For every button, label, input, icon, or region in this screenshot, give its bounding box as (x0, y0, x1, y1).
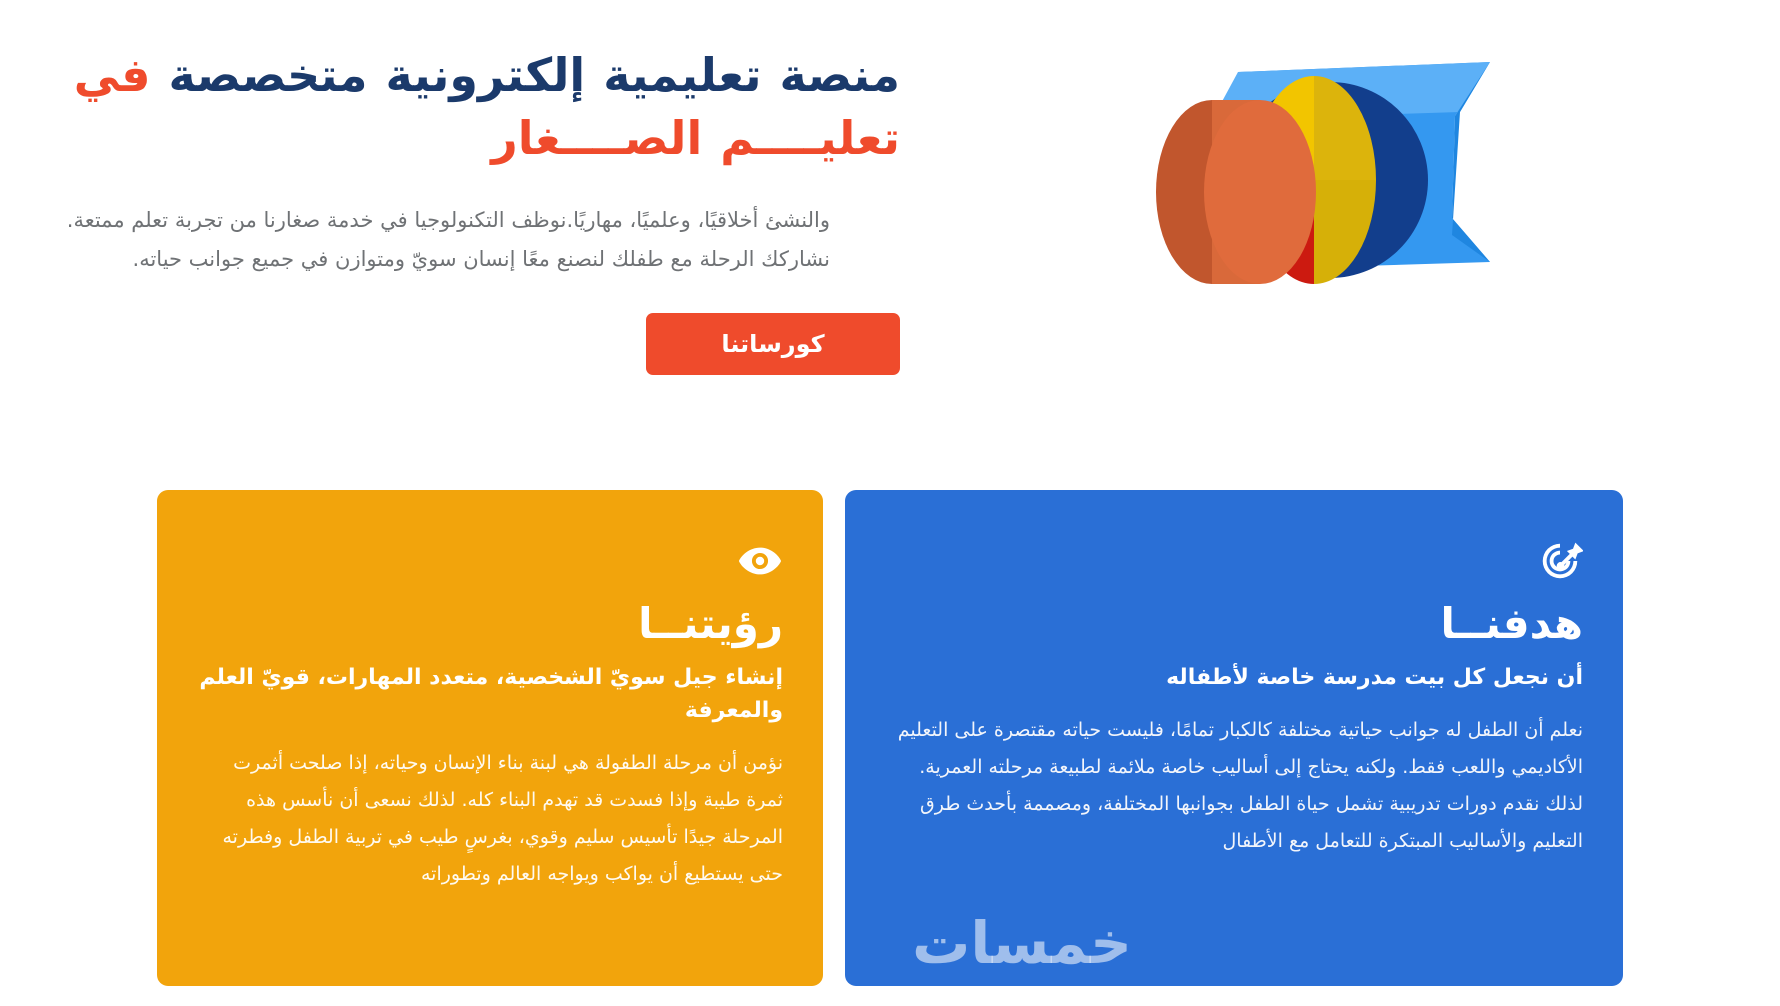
brand-logo-icon (1100, 20, 1530, 340)
page-title: منصة تعليمية إلكترونية متخصصة فيتعليــــ… (0, 44, 900, 171)
cta-wrapper: كورساتنا (0, 313, 900, 375)
card-vision-subtitle: إنشاء جيل سويّ الشخصية، متعدد المهارات، … (197, 661, 783, 727)
card-goal-title: هدفنــا (885, 598, 1583, 651)
card-goal[interactable]: هدفنــا أن نجعل كل بيت مدرسة خاصة لأطفال… (845, 490, 1623, 986)
target-icon (885, 538, 1583, 590)
eye-icon (197, 538, 783, 590)
courses-button[interactable]: كورساتنا (646, 313, 900, 375)
hero-paragraph: والنشئ أخلاقيًا، وعلميًا، مهاريًا.نوظف ا… (0, 201, 830, 279)
hero-text-column: منصة تعليمية إلكترونية متخصصة فيتعليــــ… (0, 0, 940, 375)
card-goal-subtitle: أن نجعل كل بيت مدرسة خاصة لأطفاله (885, 661, 1583, 694)
page-title-accent: في (74, 48, 151, 102)
page-title-part1: منصة تعليمية إلكترونية متخصصة (168, 48, 900, 102)
hero-section: منصة تعليمية إلكترونية متخصصة فيتعليــــ… (0, 0, 1780, 470)
card-vision-body: نؤمن أن مرحلة الطفولة هي لبنة بناء الإنس… (197, 745, 783, 893)
cards-section: رؤيتنــا إنشاء جيل سويّ الشخصية، متعدد ا… (157, 490, 1623, 986)
hero-illustration (940, 0, 1700, 400)
card-vision-title: رؤيتنــا (197, 598, 783, 651)
card-goal-body: نعلم أن الطفل له جوانب حياتية مختلفة كال… (885, 712, 1583, 860)
card-vision[interactable]: رؤيتنــا إنشاء جيل سويّ الشخصية، متعدد ا… (157, 490, 823, 986)
page-title-part2: تعليــــم الصــــغار (491, 111, 900, 165)
